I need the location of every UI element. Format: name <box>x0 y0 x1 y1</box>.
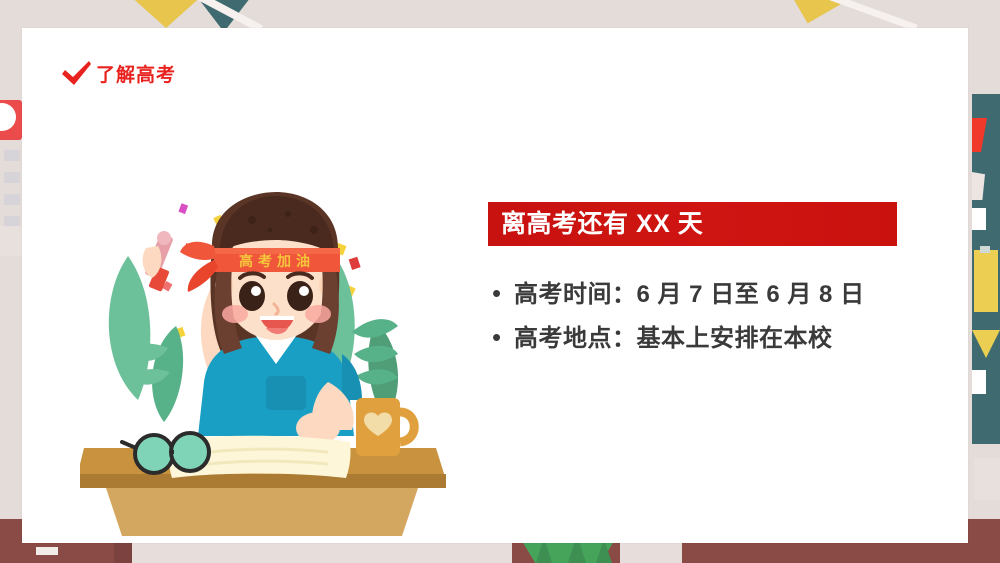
checkmark-icon <box>60 58 94 92</box>
slide-canvas: 了解高考 <box>0 0 1000 563</box>
bullet-text-exam-location: 高考地点：基本上安排在本校 <box>514 326 833 352</box>
list-item: • 高考时间：6 月 7 日至 6 月 8 日 <box>492 280 908 308</box>
bullet-marker: • <box>492 280 514 306</box>
yellow-triangle-top-left-icon <box>128 0 204 28</box>
right-yellow-triangle-icon <box>972 330 1000 358</box>
illustration-svg: 高考加油 <box>80 186 480 546</box>
title-banner: 离高考还有 XX 天 <box>488 202 897 246</box>
main-content: 离高考还有 XX 天 • 高考时间：6 月 7 日至 6 月 8 日 • 高考地… <box>488 202 908 369</box>
right-white-notch-1 <box>972 208 986 230</box>
bottom-white-chip <box>36 547 58 555</box>
page-title: 离高考还有 XX 天 <box>501 212 703 237</box>
list-item: • 高考地点：基本上安排在本校 <box>492 324 908 352</box>
right-beige-block <box>974 458 1000 500</box>
right-yellow-card-tab <box>980 246 990 253</box>
mug-icon <box>356 398 414 456</box>
bullet-text-exam-time: 高考时间：6 月 7 日至 6 月 8 日 <box>514 282 865 308</box>
bullet-list: • 高考时间：6 月 7 日至 6 月 8 日 • 高考地点：基本上安排在本校 <box>488 280 908 353</box>
left-gray-bar-3 <box>4 194 20 205</box>
left-gray-bar-2 <box>4 172 20 183</box>
right-yellow-card-shape <box>974 250 998 312</box>
brand-logo[interactable]: 了解高考 <box>60 58 176 92</box>
left-beige-block <box>0 226 22 256</box>
left-gray-bar-1 <box>4 150 20 161</box>
slide-content-card: 了解高考 <box>22 28 968 543</box>
headband-text: 高考加油 <box>239 253 315 269</box>
brand-logo-text: 了解高考 <box>96 66 176 85</box>
bullet-marker: • <box>492 324 514 350</box>
student-at-desk-illustration: 高考加油 <box>80 186 480 546</box>
right-white-notch-2 <box>972 370 986 394</box>
